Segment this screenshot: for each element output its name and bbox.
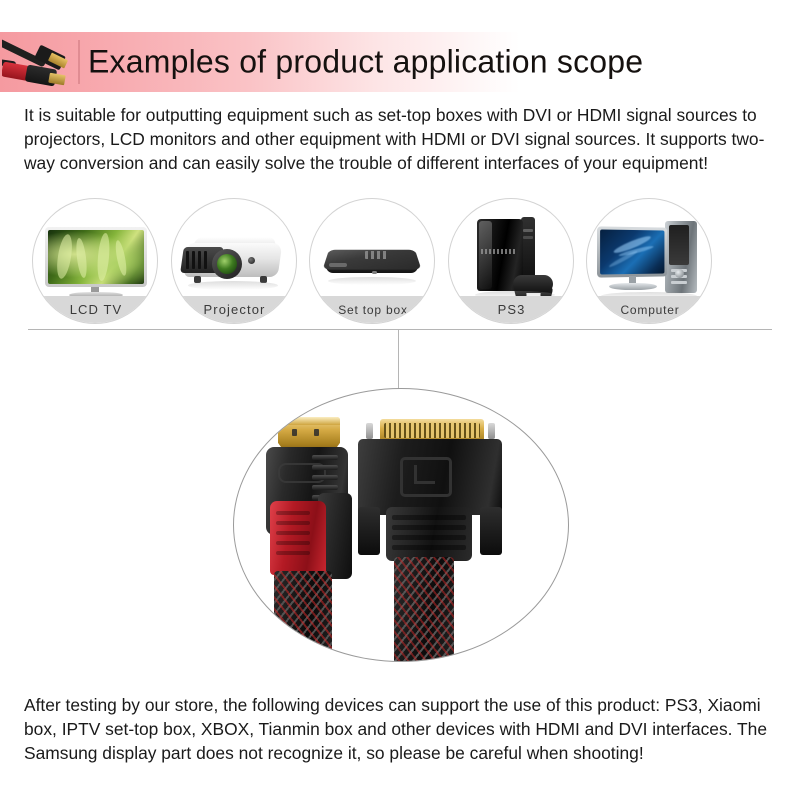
- intro-paragraph: It is suitable for outputting equipment …: [24, 103, 780, 176]
- device-circle: LCD TV: [32, 198, 158, 324]
- device-label-band: Projector: [172, 296, 297, 323]
- page-title: Examples of product application scope: [88, 44, 643, 81]
- device-item-set-top-box: Set top box: [309, 198, 435, 324]
- device-item-computer: Computer: [586, 198, 712, 324]
- device-label: PS3: [498, 302, 526, 317]
- product-photo-circle: [233, 388, 567, 660]
- device-label-band: Computer: [587, 296, 712, 323]
- supported-devices-row: LCD TV: [32, 198, 712, 324]
- device-circle: Projector: [171, 198, 297, 324]
- product-infographic-page: Examples of product application scope It…: [0, 0, 800, 800]
- banner-divider: [78, 40, 80, 84]
- device-circle: Computer: [586, 198, 712, 324]
- device-circle: Set top box: [309, 198, 435, 324]
- device-circle: PS3: [448, 198, 574, 324]
- device-label: Set top box: [338, 303, 408, 317]
- header-banner: Examples of product application scope: [0, 32, 800, 92]
- device-item-projector: Projector: [171, 198, 297, 324]
- dvi-braided-cable: [394, 557, 454, 662]
- horizontal-connector-line: [28, 329, 772, 330]
- device-label: Projector: [204, 302, 266, 317]
- device-label: Computer: [620, 303, 679, 317]
- device-label-band: LCD TV: [33, 296, 158, 323]
- vertical-connector-line: [398, 329, 399, 389]
- device-item-ps3: PS3: [448, 198, 574, 324]
- hdmi-to-dvi-cable-image: [234, 389, 568, 661]
- product-circle-outline: [233, 388, 569, 662]
- dvi-thumbscrew-left: [358, 507, 380, 555]
- footer-paragraph: After testing by our store, the followin…: [24, 693, 780, 766]
- device-label-band: PS3: [449, 296, 574, 323]
- hdmi-dvi-cable-thumbnail-icon: [2, 34, 74, 92]
- dvi-thumbscrew-right: [480, 507, 502, 555]
- device-label-band: Set top box: [310, 296, 435, 323]
- hdmi-braided-cable: [274, 571, 332, 662]
- device-item-lcd-tv: LCD TV: [32, 198, 158, 324]
- device-label: LCD TV: [70, 302, 123, 317]
